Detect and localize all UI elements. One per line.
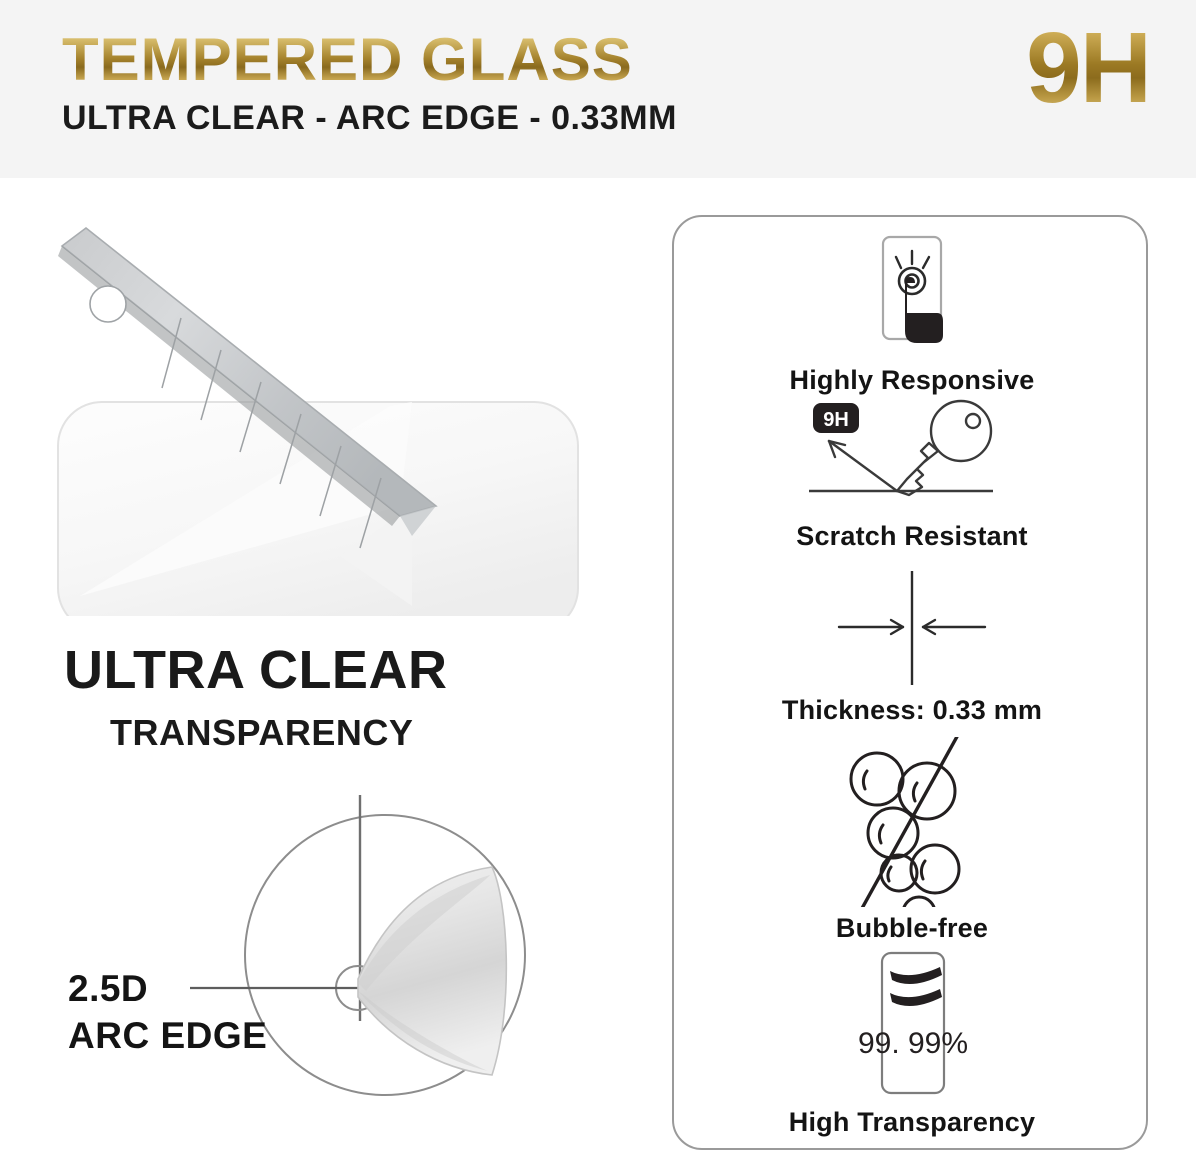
feature-bubble-free: Bubble-free xyxy=(674,737,1150,944)
arc-edge-label: 2.5D ARC EDGE xyxy=(68,965,267,1060)
header-text-block: TEMPERED GLASS ULTRA CLEAR - ARC EDGE - … xyxy=(62,30,677,138)
blade-glass-svg xyxy=(40,206,640,616)
touch-finger-phone-icon xyxy=(847,231,977,359)
transparency-value: 99. 99% xyxy=(858,1027,968,1060)
page-subtitle: ULTRA CLEAR - ARC EDGE - 0.33MM xyxy=(62,99,677,138)
feature-label: High Transparency xyxy=(674,1107,1150,1138)
feature-highly-responsive: Highly Responsive xyxy=(674,231,1150,396)
page-title: TEMPERED GLASS xyxy=(62,30,677,90)
blade-hole xyxy=(90,286,126,322)
hardness-badge-9h: 9H xyxy=(1026,18,1150,118)
arrow-left xyxy=(923,620,985,634)
deflection-arrow xyxy=(829,441,897,491)
phone-transparency-icon: 99. 99% xyxy=(852,949,972,1101)
header-banner: TEMPERED GLASS ULTRA CLEAR - ARC EDGE - … xyxy=(0,0,1196,178)
feature-label: Bubble-free xyxy=(674,913,1150,944)
features-panel: Highly Responsive 9H Scratch Resistan xyxy=(672,215,1148,1150)
arc-edge-label-line1: 2.5D xyxy=(68,965,267,1012)
feature-thickness: Thickness: 0.33 mm xyxy=(674,569,1150,726)
arc-edge-label-line2: ARC EDGE xyxy=(68,1012,267,1059)
feature-label: Scratch Resistant xyxy=(674,521,1150,552)
thickness-arrows-icon xyxy=(807,569,1017,689)
ultra-clear-heading: ULTRA CLEAR xyxy=(64,643,584,697)
arc-edge-svg xyxy=(40,783,640,1128)
key-scratch-icon: 9H xyxy=(797,399,1027,515)
transparency-subheading: TRANSPARENCY xyxy=(110,715,584,751)
left-panel: ULTRA CLEAR TRANSPARENCY xyxy=(0,178,660,1161)
key-shape xyxy=(897,401,991,495)
arc-edge-illustration: 2.5D ARC EDGE xyxy=(40,783,640,1128)
ultra-clear-text-block: ULTRA CLEAR TRANSPARENCY xyxy=(64,643,584,751)
feature-label: Thickness: 0.33 mm xyxy=(674,695,1150,726)
feature-high-transparency: 99. 99% High Transparency xyxy=(674,949,1150,1138)
svg-text:9H: 9H xyxy=(823,409,849,431)
feature-label: Highly Responsive xyxy=(674,365,1150,396)
badge-9h-small: 9H xyxy=(813,403,859,433)
feature-scratch-resistant: 9H Scratch Resistant xyxy=(674,399,1150,552)
arrow-right xyxy=(839,620,903,634)
blade-on-glass-illustration xyxy=(40,206,640,616)
bubbles-slash-icon xyxy=(817,737,1007,907)
